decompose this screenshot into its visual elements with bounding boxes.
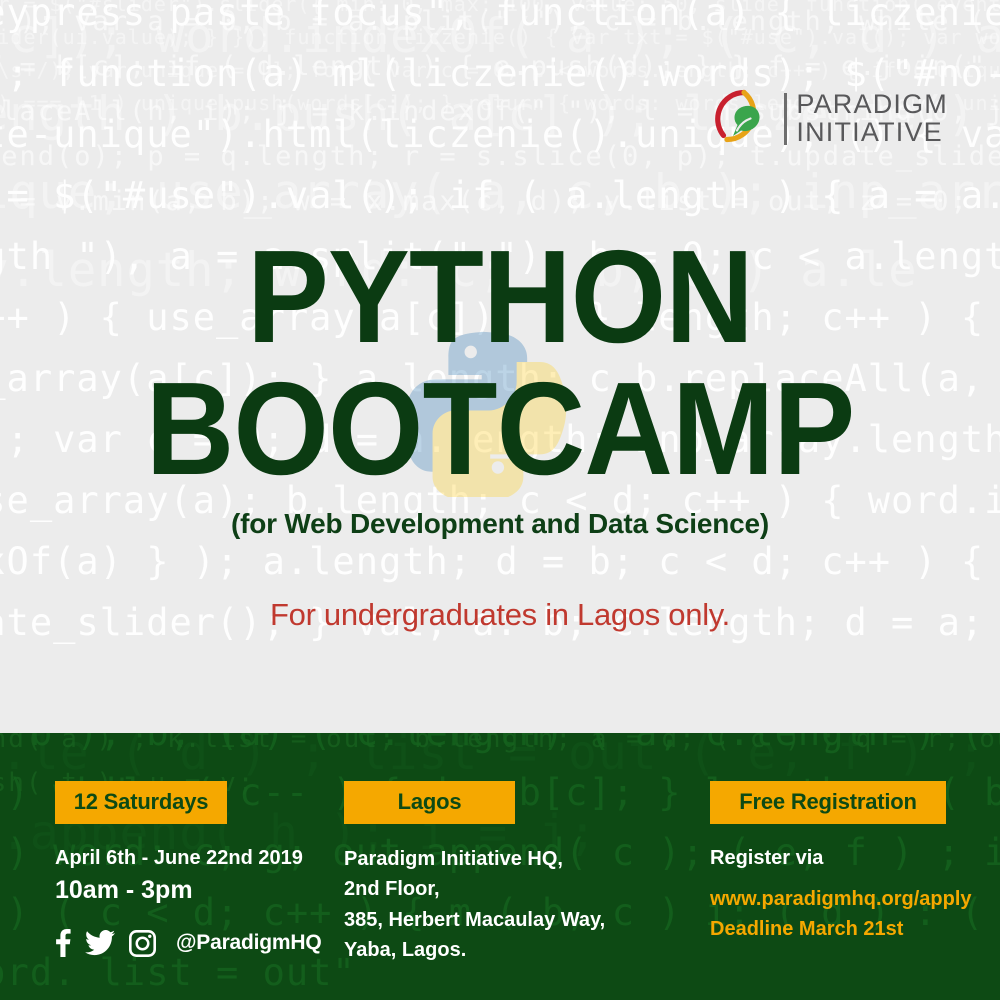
eligibility-note: For undergraduates in Lagos only. [0, 597, 1000, 633]
instagram-icon[interactable] [129, 930, 156, 957]
register-label: Register via [710, 844, 975, 872]
dates-body: April 6th - June 22nd 2019 10am - 3pm [55, 844, 335, 906]
social-row: @ParadigmHQ [55, 929, 321, 957]
address-line: 385, Herbert Macaulay Way, [344, 905, 644, 935]
logo-name-line2: INITIATIVE [796, 119, 948, 147]
logo-divider [784, 93, 787, 145]
headline-line-1: PYTHON [35, 233, 965, 361]
twitter-icon[interactable] [85, 930, 115, 956]
dates-badge: 12 Saturdays [55, 781, 227, 824]
headline-line-2: BOOTCAMP [35, 365, 965, 493]
venue-body: Paradigm Initiative HQ, 2nd Floor, 385, … [344, 844, 644, 966]
date-range: April 6th - June 22nd 2019 [55, 844, 335, 872]
brand-logo: PARADIGM INITIATIVE [713, 88, 948, 150]
registration-column: Free Registration Register via www.parad… [710, 781, 975, 944]
registration-badge: Free Registration [710, 781, 946, 824]
facebook-icon[interactable] [55, 929, 71, 957]
address-line: 2nd Floor, [344, 874, 644, 904]
address-line: Yaba, Lagos. [344, 935, 644, 965]
registration-deadline: Deadline March 21st [710, 914, 975, 944]
registration-url[interactable]: www.paradigmhq.org/apply [710, 884, 975, 914]
time-range: 10am - 3pm [55, 874, 335, 906]
address-line: Paradigm Initiative HQ, [344, 844, 644, 874]
poster-canvas: a.length; c < d; c++ ) use_array(a[c]); … [0, 0, 1000, 1000]
bottom-panel: ( a, b ) length; ( c ) word: c; out" a.l… [0, 733, 1000, 1000]
logo-wordmark: PARADIGM INITIATIVE [796, 91, 948, 146]
social-handle: @ParadigmHQ [176, 931, 321, 955]
registration-body: Register via www.paradigmhq.org/apply De… [710, 844, 975, 944]
paradigm-initiative-leaf-icon [713, 88, 775, 150]
venue-badge: Lagos [344, 781, 515, 824]
venue-column: Lagos Paradigm Initiative HQ, 2nd Floor,… [344, 781, 644, 966]
headline-subtitle: (for Web Development and Data Science) [0, 508, 1000, 540]
spacer [710, 872, 975, 884]
logo-name-line1: PARADIGM [796, 91, 948, 119]
dates-column: 12 Saturdays April 6th - June 22nd 2019 … [55, 781, 335, 906]
headline-block: PYTHON BOOTCAMP [0, 233, 1000, 493]
